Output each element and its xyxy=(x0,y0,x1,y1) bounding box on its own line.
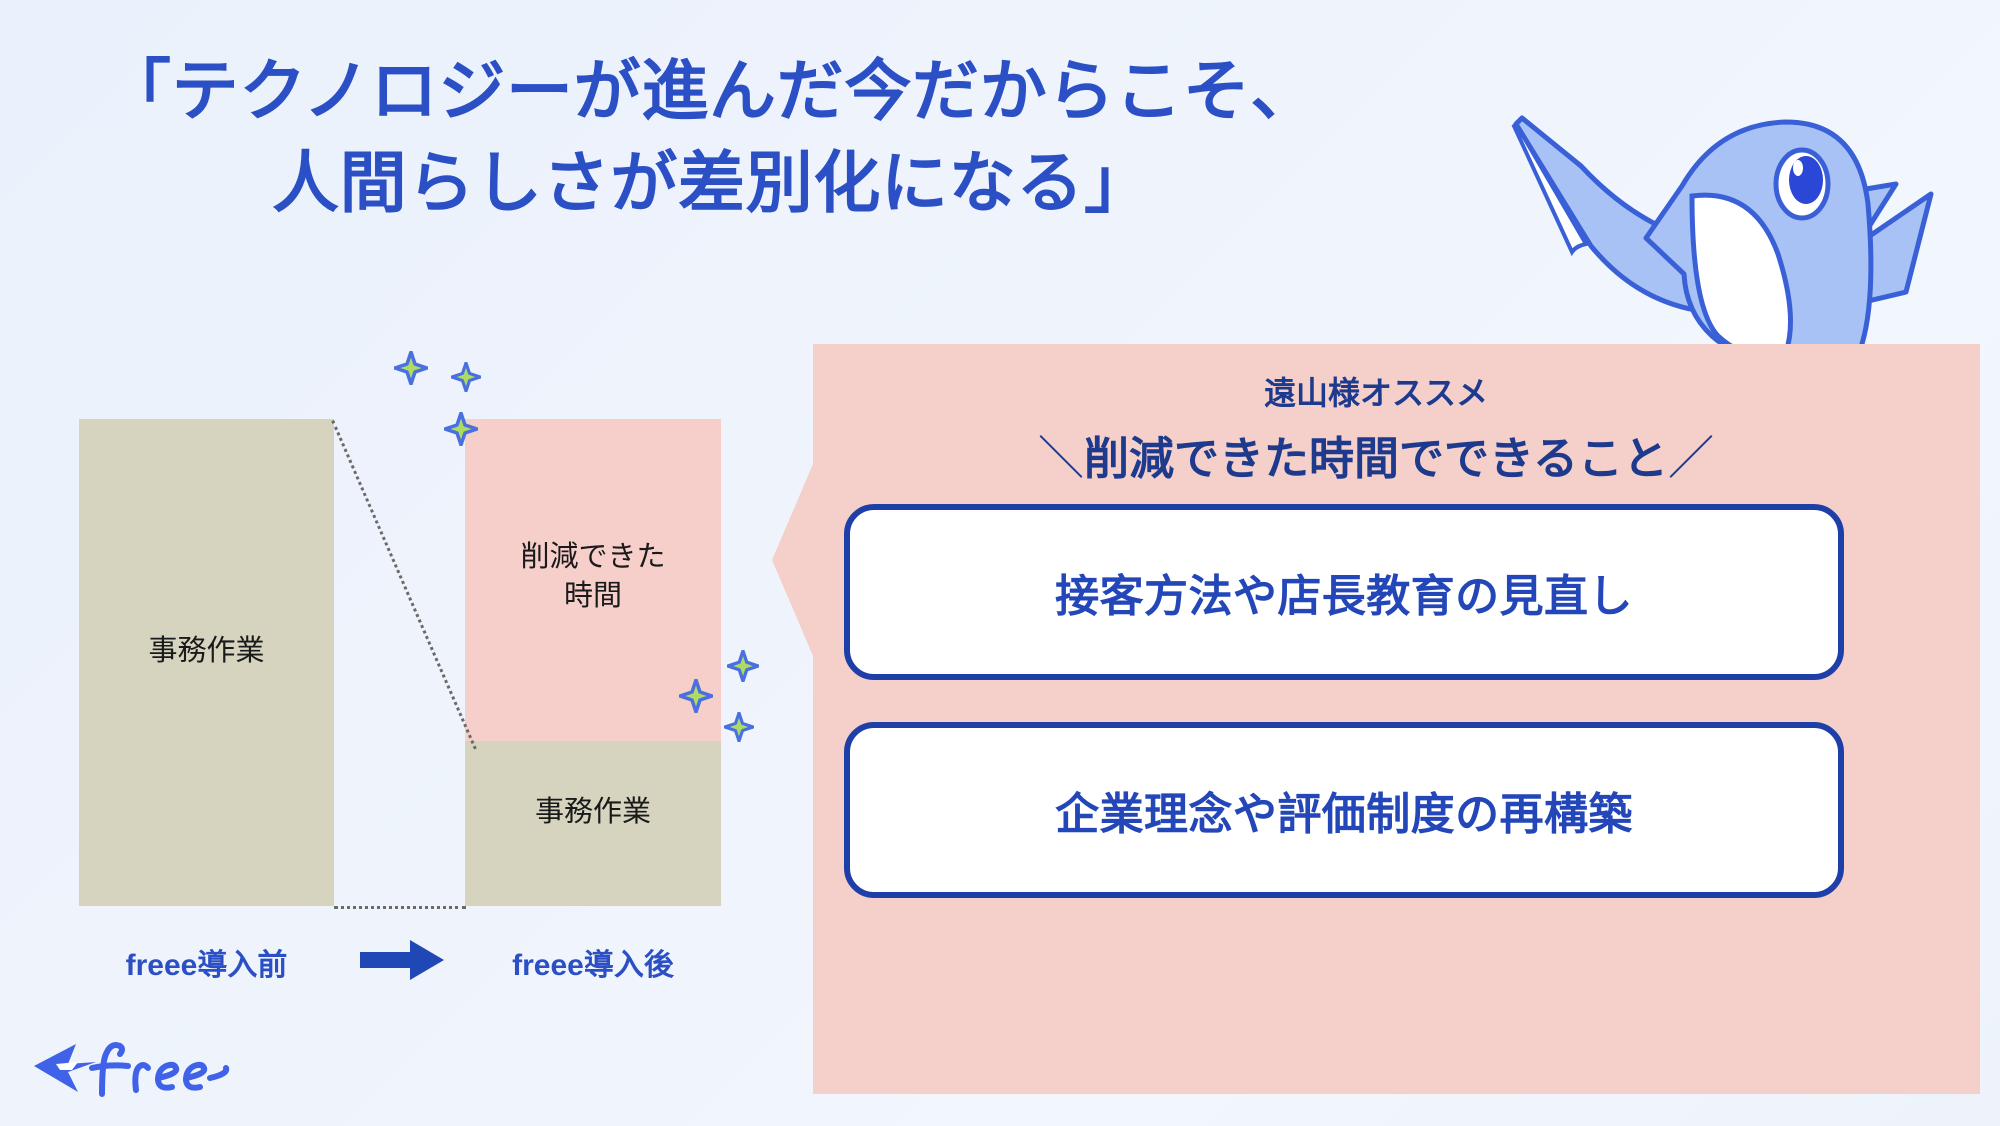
recommendation-card-1-label: 接客方法や店長教育の見直し xyxy=(1055,560,1633,624)
bar-label-before-clerical: 事務作業 xyxy=(79,632,334,671)
heading-slash-left: ＼ xyxy=(1038,422,1084,488)
before-after-bar-chart: 事務作業 削減できた 時間 事務作業 freee導入前 freee導入後 xyxy=(0,0,830,1010)
recommendation-panel: 遠山様オススメ ＼削減できた時間でできること／ 接客方法や店長教育の見直し 企業… xyxy=(772,344,1980,1094)
sparkle-icon xyxy=(724,712,754,742)
axis-label-after: freee導入後 xyxy=(465,940,721,984)
bar-label-saved-time: 削減できた 時間 xyxy=(465,538,721,616)
panel-kicker: 遠山様オススメ xyxy=(772,368,1980,414)
slide-root: 「テクノロジーが進んだ今だからこそ、 人間らしさが差別化になる」 事務作業 削減… xyxy=(0,0,2000,1126)
sparkle-icon xyxy=(727,650,759,682)
recommendation-card-2[interactable]: 企業理念や評価制度の再構築 xyxy=(844,722,1844,898)
connector-line-bottom xyxy=(334,906,466,909)
sparkle-icon xyxy=(394,351,428,385)
bar-label-after-clerical: 事務作業 xyxy=(465,793,721,832)
sparkle-icon xyxy=(451,362,481,392)
connector-line-top xyxy=(331,420,477,750)
sparkle-icon xyxy=(679,679,713,713)
axis-label-before: freee導入前 xyxy=(79,940,334,984)
heading-slash-right: ／ xyxy=(1668,422,1714,488)
heading-text: 削減できた時間でできること xyxy=(1084,433,1668,484)
sparkle-icon xyxy=(444,412,478,446)
panel-heading: ＼削減できた時間でできること／ xyxy=(772,422,1980,488)
freee-logo xyxy=(30,1032,230,1104)
recommendation-card-2-label: 企業理念や評価制度の再構築 xyxy=(1055,778,1633,842)
right-arrow-icon xyxy=(360,938,444,982)
recommendation-card-1[interactable]: 接客方法や店長教育の見直し xyxy=(844,504,1844,680)
